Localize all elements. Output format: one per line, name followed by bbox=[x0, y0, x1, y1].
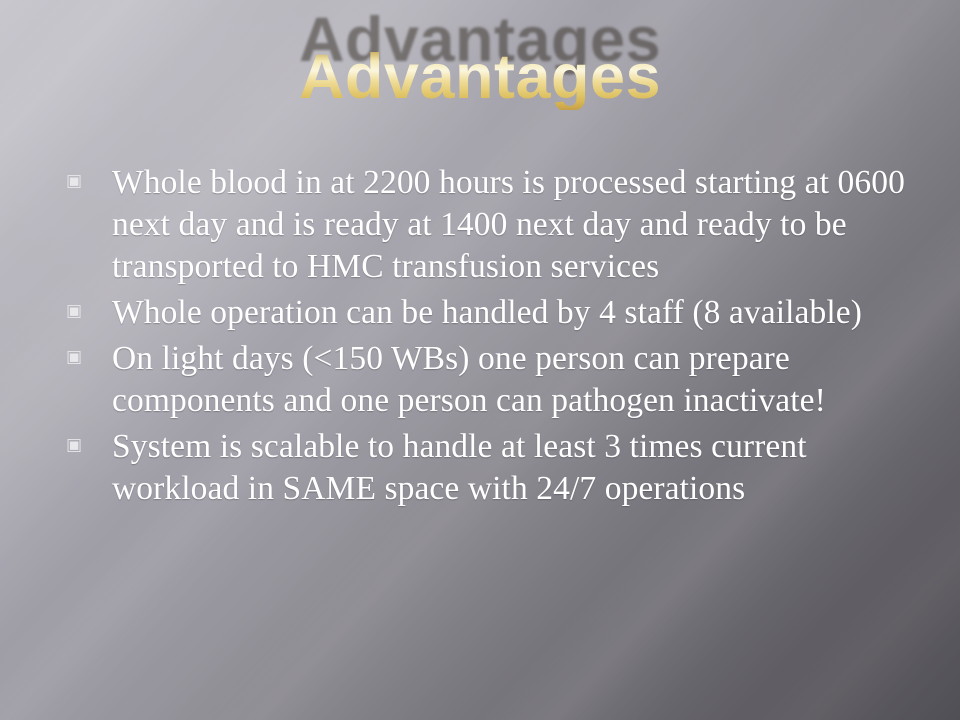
bullet-item: ▣ On light days (<150 WBs) one person ca… bbox=[66, 338, 928, 422]
square-bullet-icon: ▣ bbox=[66, 162, 112, 190]
bullet-text: Whole blood in at 2200 hours is processe… bbox=[112, 162, 928, 288]
bullet-text: On light days (<150 WBs) one person can … bbox=[112, 338, 928, 422]
presentation-slide: Advantages Advantages ▣ Whole blood in a… bbox=[0, 0, 960, 720]
square-bullet-icon: ▣ bbox=[66, 292, 112, 320]
bullet-item: ▣ System is scalable to handle at least … bbox=[66, 426, 928, 510]
square-bullet-icon: ▣ bbox=[66, 426, 112, 454]
bullet-item: ▣ Whole blood in at 2200 hours is proces… bbox=[66, 162, 928, 288]
bullet-text: Whole operation can be handled by 4 staf… bbox=[112, 292, 928, 334]
slide-body-bullet-list: ▣ Whole blood in at 2200 hours is proces… bbox=[66, 162, 928, 514]
slide-title-area: Advantages bbox=[0, 44, 960, 110]
bullet-item: ▣ Whole operation can be handled by 4 st… bbox=[66, 292, 928, 334]
square-bullet-icon: ▣ bbox=[66, 338, 112, 366]
slide-title: Advantages bbox=[299, 44, 661, 110]
bullet-text: System is scalable to handle at least 3 … bbox=[112, 426, 928, 510]
